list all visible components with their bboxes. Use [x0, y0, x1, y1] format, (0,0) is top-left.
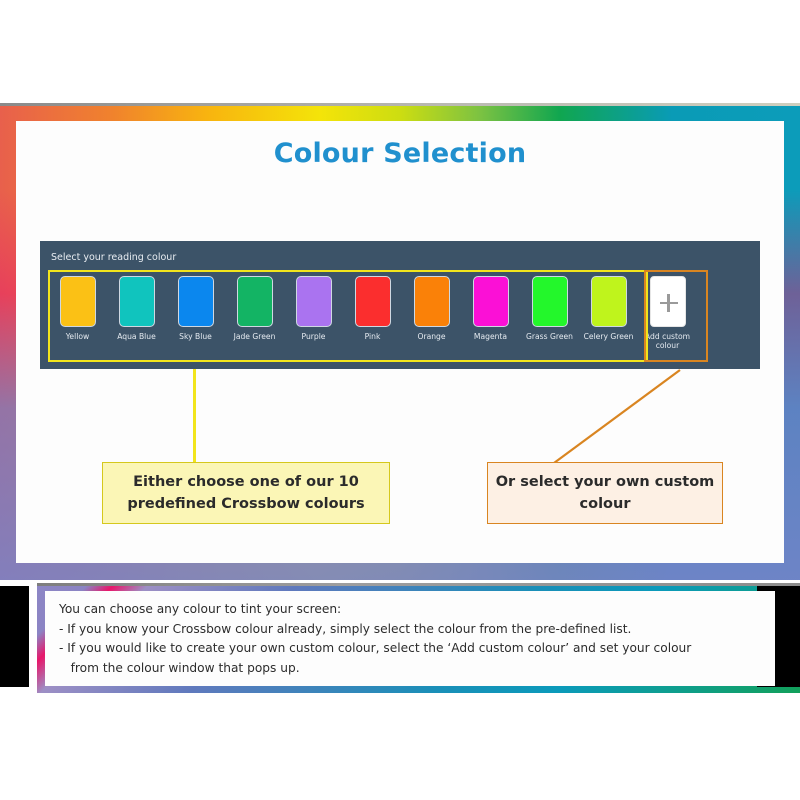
picker-heading: Select your reading colour	[51, 252, 176, 263]
swatch-option-magenta[interactable]: Magenta	[461, 272, 520, 341]
swatch-chip[interactable]	[237, 276, 273, 327]
swatch-label: Jade Green	[234, 332, 276, 341]
notes-content-area: You can choose any colour to tint your s…	[45, 591, 775, 686]
callout-predefined-colours: Either choose one of our 10 predefined C…	[102, 462, 390, 524]
swatch-label: Grass Green	[526, 332, 573, 341]
predefined-callout-connector	[193, 369, 196, 462]
add-custom-colour-label: Add custom colour	[645, 332, 691, 350]
swatch-option-grass-green[interactable]: Grass Green	[520, 272, 579, 341]
notes-line-4: from the colour window that pops up.	[59, 659, 761, 679]
swatch-chip[interactable]	[296, 276, 332, 327]
notes-gradient-frame: You can choose any colour to tint your s…	[37, 583, 800, 693]
swatch-option-aqua-blue[interactable]: Aqua Blue	[107, 272, 166, 341]
colour-picker-panel: Select your reading colour Yellow Aqua B…	[40, 241, 760, 369]
slide-gradient-frame: Colour Selection Select your reading col…	[0, 103, 800, 580]
swatch-label: Orange	[417, 332, 445, 341]
page-title: Colour Selection	[16, 138, 784, 169]
swatch-chip[interactable]	[355, 276, 391, 327]
swatch-label: Pink	[365, 332, 381, 341]
notes-line-3: - If you would like to create your own c…	[59, 639, 761, 659]
slide-page: Colour Selection Select your reading col…	[0, 0, 800, 800]
swatch-label: Purple	[302, 332, 326, 341]
swatch-option-celery-green[interactable]: Celery Green	[579, 272, 638, 341]
swatch-option-sky-blue[interactable]: Sky Blue	[166, 272, 225, 341]
slide-top-shadow	[0, 103, 800, 106]
swatch-chip[interactable]	[591, 276, 627, 327]
callout-custom-colour: Or select your own custom colour	[487, 462, 723, 524]
swatch-chip[interactable]	[473, 276, 509, 327]
add-custom-colour-button[interactable]: Add custom colour	[638, 272, 697, 350]
swatch-label: Celery Green	[584, 332, 634, 341]
swatch-label: Aqua Blue	[117, 332, 156, 341]
swatch-option-purple[interactable]: Purple	[284, 272, 343, 341]
swatch-option-pink[interactable]: Pink	[343, 272, 402, 341]
plus-icon[interactable]	[650, 276, 686, 327]
notes-line-1: You can choose any colour to tint your s…	[59, 600, 761, 620]
custom-callout-connector	[552, 369, 682, 464]
swatch-label: Magenta	[474, 332, 507, 341]
swatch-label: Yellow	[66, 332, 89, 341]
swatch-chip[interactable]	[60, 276, 96, 327]
slide-content-area: Colour Selection Select your reading col…	[16, 121, 784, 563]
notes-top-shadow	[37, 583, 800, 586]
swatch-chip[interactable]	[178, 276, 214, 327]
swatch-label: Sky Blue	[179, 332, 212, 341]
notes-line-2: - If you know your Crossbow colour alrea…	[59, 620, 761, 640]
swatch-option-jade-green[interactable]: Jade Green	[225, 272, 284, 341]
swatch-option-yellow[interactable]: Yellow	[48, 272, 107, 341]
swatch-chip[interactable]	[532, 276, 568, 327]
swatch-chip[interactable]	[119, 276, 155, 327]
swatch-chip[interactable]	[414, 276, 450, 327]
decorative-bleed-left	[0, 586, 29, 687]
colour-swatch-strip: Yellow Aqua Blue Sky Blue Jade Green	[48, 272, 697, 350]
swatch-option-orange[interactable]: Orange	[402, 272, 461, 341]
